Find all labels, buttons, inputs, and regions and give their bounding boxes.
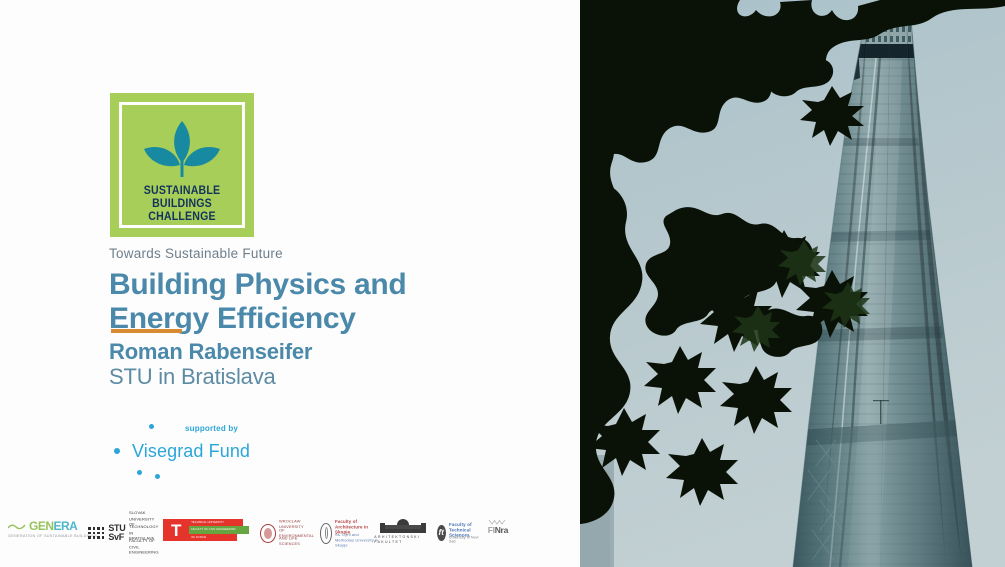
dot-grid-icon — [88, 527, 104, 539]
logo-finra: FINra — [488, 519, 508, 547]
visegrad-fund-name: Visegrad Fund — [132, 441, 250, 462]
page-title: Building Physics and Energy Efficiency — [109, 268, 509, 336]
logo-genera: GENERA GENERATION OF SUSTAINABLE BUILDIN… — [8, 519, 77, 547]
logo-genera-wordmark: GENERA — [29, 519, 77, 533]
logo-belgrade-text: ARHITEKTONSKI FAKULTET — [374, 534, 432, 544]
slide-left-panel: SUSTAINABLE BUILDINGS CHALLENGE Towards … — [0, 0, 580, 567]
photo-artwork — [580, 0, 1005, 567]
ftn-mark-icon: ft — [437, 525, 446, 541]
logo-university-belgrade-architecture: ARHITEKTONSKI FAKULTET — [380, 519, 426, 547]
logo-tuke-bars: TECHNICAL UNIVERSITY FACULTY OF CIVIL EN… — [189, 519, 249, 547]
logo-skopje-text: Faculty of Architecture in Skopje Ss. Cy… — [335, 521, 369, 546]
author-affiliation: STU in Bratislava — [109, 364, 276, 390]
building-icon — [380, 519, 426, 533]
visegrad-dot-icon — [114, 448, 120, 454]
tagline: Towards Sustainable Future — [109, 246, 283, 261]
logo-stu-text: SLOVAK UNIVERSITY OF TECHNOLOGY IN BRATI… — [129, 512, 152, 553]
logo-wroclaw-text: WROCLAW UNIVERSITY OF ENVIRONMENTAL AND … — [279, 520, 309, 546]
visegrad-dot-icon — [155, 474, 160, 479]
logo-wroclaw-university: WROCLAW UNIVERSITY OF ENVIRONMENTAL AND … — [260, 519, 309, 547]
logo-stu-svf: STU SvF SLOVAK UNIVERSITY OF TECHNOLOGY … — [88, 519, 152, 547]
logo-tuke-mark: T — [163, 519, 189, 541]
university-seal-icon — [260, 524, 276, 543]
wave-icon — [8, 522, 26, 531]
presentation-slide: SUSTAINABLE BUILDINGS CHALLENGE Towards … — [0, 0, 1005, 567]
shanghai-tower-photo — [580, 0, 1005, 567]
logo-finra-wordmark: FINra — [488, 526, 508, 535]
three-leaves-icon — [140, 119, 224, 185]
logo-wordmark-line1: SUSTAINABLE BUILDINGS — [127, 185, 237, 211]
logo-wordmark: SUSTAINABLE BUILDINGS CHALLENGE — [127, 185, 237, 224]
partner-logo-strip: GENERA GENERATION OF SUSTAINABLE BUILDIN… — [8, 517, 508, 549]
logo-faculty-architecture-skopje: Faculty of Architecture in Skopje Ss. Cy… — [320, 519, 369, 547]
logo-stu-mark: STU SvF — [108, 524, 125, 542]
logo-genera-subtitle: GENERATION OF SUSTAINABLE BUILDINGS — [8, 534, 97, 538]
logo-wordmark-line2: CHALLENGE — [127, 211, 237, 224]
logo-technical-university-kosice: T TECHNICAL UNIVERSITY FACULTY OF CIVIL … — [163, 519, 249, 547]
title-accent-underline — [111, 329, 182, 333]
author-name: Roman Rabenseifer — [109, 339, 312, 365]
logo-ftn-text: Faculty of Technical Sciences University… — [449, 524, 477, 543]
logo-faculty-technical-sciences: ft Faculty of Technical Sciences Univers… — [437, 519, 477, 547]
sustainable-buildings-challenge-logo: SUSTAINABLE BUILDINGS CHALLENGE — [110, 93, 254, 237]
university-seal-icon — [320, 523, 332, 544]
logo-inner-border: SUSTAINABLE BUILDINGS CHALLENGE — [119, 102, 245, 228]
supported-by-label: supported by — [185, 424, 238, 433]
visegrad-dot-icon — [149, 424, 154, 429]
visegrad-dot-icon — [137, 470, 142, 475]
